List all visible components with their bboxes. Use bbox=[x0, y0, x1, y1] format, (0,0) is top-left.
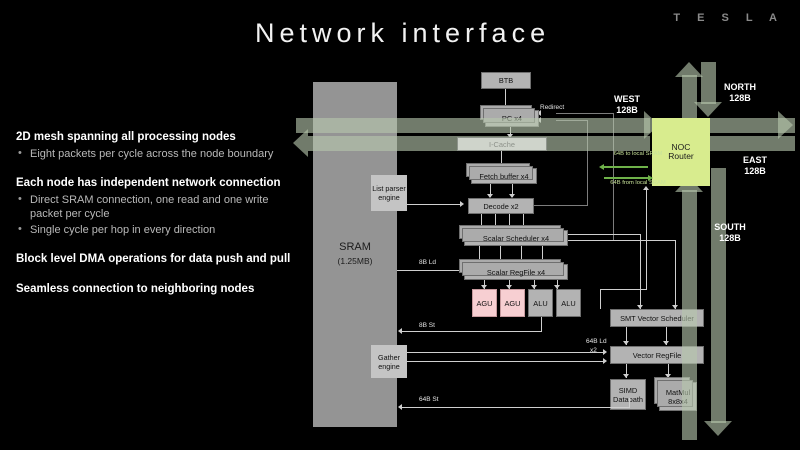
connector-st64-sram bbox=[402, 407, 630, 408]
mesh-arrowhead-down bbox=[694, 102, 722, 117]
st8-label: 8B St bbox=[419, 322, 435, 330]
mesh-arrowhead-down bbox=[704, 421, 732, 436]
arrowhead-down bbox=[672, 305, 678, 309]
connector-simd-st64 bbox=[629, 398, 630, 407]
btb-block: BTB bbox=[481, 72, 531, 89]
alu-label: ALU bbox=[561, 299, 575, 308]
direction-label-north: NORTH 128B bbox=[718, 82, 762, 104]
ld64-label: 64B Ld bbox=[586, 338, 607, 346]
bullet-head: 2D mesh spanning all processing nodes bbox=[16, 130, 296, 144]
mesh-arrow-south-out bbox=[711, 168, 726, 423]
mesh-arrowhead-up bbox=[675, 62, 703, 77]
fetch-buffer-block: Fetch buffer x4 bbox=[471, 168, 537, 184]
sram-size: (1.25MB) bbox=[338, 257, 373, 266]
bullet-sub: Eight packets per cycle across the node … bbox=[16, 147, 296, 161]
decode-label: Decode x2 bbox=[483, 202, 518, 211]
connector-st8-sram bbox=[402, 331, 542, 332]
north-width: 128B bbox=[718, 93, 762, 104]
spacer bbox=[16, 163, 296, 176]
west-width: 128B bbox=[605, 105, 649, 116]
noc-from-local-sram-label: 64B from local SRAM bbox=[596, 180, 680, 187]
west-name: WEST bbox=[605, 94, 649, 105]
gather-engine: Gather engine bbox=[371, 345, 407, 378]
bullet-list: 2D mesh spanning all processing nodes Ei… bbox=[16, 130, 296, 299]
spacer bbox=[16, 269, 296, 282]
gather-engine-label: Gather engine bbox=[371, 353, 407, 371]
mesh-arrow-north-in bbox=[701, 62, 716, 104]
scalar-scheduler-block: Scalar Scheduler x4 bbox=[464, 230, 568, 246]
scalar-regfile-block: Scalar RegFile x4 bbox=[464, 264, 568, 280]
mesh-arrowhead-right bbox=[778, 111, 793, 139]
tesla-logo: T E S L A bbox=[673, 12, 784, 24]
decode-block: Decode x2 bbox=[468, 198, 534, 214]
agu-block-2: AGU bbox=[500, 289, 525, 317]
north-name: NORTH bbox=[718, 82, 762, 93]
agu-label: AGU bbox=[504, 299, 520, 308]
south-name: SOUTH bbox=[708, 222, 752, 233]
mesh-arrow-west-in bbox=[296, 118, 650, 133]
noc-to-local-sram-label: 64B to local SRAM bbox=[596, 151, 680, 158]
redirect-label: Redirect bbox=[540, 104, 564, 112]
fetch-buffer-label: Fetch buffer x4 bbox=[479, 172, 528, 181]
arrowhead-right bbox=[603, 358, 607, 364]
simd-datapath-label: SIMD Datapath bbox=[611, 386, 645, 404]
connector-noc-vector-h2 bbox=[600, 289, 601, 309]
st64-label: 64B St bbox=[419, 396, 439, 404]
sram-label: SRAM bbox=[339, 243, 371, 252]
arrowhead-left-green bbox=[599, 164, 604, 170]
arrowhead-left bbox=[398, 404, 402, 410]
bullet-head: Block level DMA operations for data push… bbox=[16, 252, 296, 266]
mesh-arrowhead-left bbox=[293, 129, 308, 157]
connector-sched-smt-b bbox=[568, 240, 676, 241]
arrowhead-right bbox=[603, 349, 607, 355]
arrowhead-down bbox=[623, 374, 629, 378]
bullet-head: Seamless connection to neighboring nodes bbox=[16, 282, 296, 296]
connector-sram-ld8 bbox=[397, 270, 464, 271]
connector-decode-branch bbox=[534, 205, 588, 206]
mesh-arrow-south-in bbox=[682, 190, 697, 440]
slide: Network interface T E S L A 2D mesh span… bbox=[0, 0, 800, 450]
bullet-sub: Single cycle per hop in every direction bbox=[16, 223, 296, 237]
noc-from-local-sram-arrow bbox=[604, 177, 648, 179]
page-title: Network interface bbox=[255, 18, 550, 49]
icache-label: I-Cache bbox=[489, 140, 515, 149]
east-width: 128B bbox=[733, 166, 777, 177]
agu-block-1: AGU bbox=[472, 289, 497, 317]
south-width: 128B bbox=[708, 233, 752, 244]
btb-label: BTB bbox=[499, 76, 513, 85]
connector-noc-vector bbox=[646, 190, 647, 290]
list-parser-engine: List parser engine bbox=[371, 175, 407, 211]
list-parser-engine-label: List parser engine bbox=[371, 184, 407, 202]
connector-alu-st8 bbox=[541, 317, 542, 331]
icache-block: I-Cache bbox=[457, 137, 547, 151]
connector-gather-vregfile bbox=[407, 352, 605, 353]
arrowhead-down bbox=[637, 305, 643, 309]
noc-to-local-sram-arrow bbox=[604, 166, 648, 168]
arrowhead-down bbox=[623, 341, 629, 345]
vector-regfile-label: Vector RegFile bbox=[633, 351, 681, 360]
connector-listparser-decode bbox=[407, 204, 462, 205]
bullet-sub: Direct SRAM connection, one read and one… bbox=[16, 193, 296, 221]
alu-block-2: ALU bbox=[556, 289, 581, 317]
scalar-scheduler-label: Scalar Scheduler x4 bbox=[483, 234, 549, 243]
arrowhead-right bbox=[460, 201, 464, 207]
connector-sched-smt-a bbox=[568, 234, 641, 235]
arrowhead-down bbox=[663, 341, 669, 345]
mesh-arrow-east-in bbox=[700, 136, 795, 151]
connector-sched-smt-b-v bbox=[675, 240, 676, 309]
simd-datapath-block: SIMD Datapath bbox=[610, 379, 646, 410]
direction-label-east: EAST 128B bbox=[733, 155, 777, 177]
arrowhead-left bbox=[398, 328, 402, 334]
connector-noc-vector-h bbox=[600, 289, 647, 290]
alu-block-1: ALU bbox=[528, 289, 553, 317]
agu-label: AGU bbox=[476, 299, 492, 308]
ld64-x2-label: x2 bbox=[590, 347, 597, 355]
scalar-regfile-label: Scalar RegFile x4 bbox=[487, 268, 545, 277]
direction-label-south: SOUTH 128B bbox=[708, 222, 752, 244]
direction-label-west: WEST 128B bbox=[605, 94, 649, 116]
bullet-head: Each node has independent network connec… bbox=[16, 176, 296, 190]
connector-gather-vregfile-2 bbox=[407, 361, 605, 362]
connector-sched-smt-a-v bbox=[640, 234, 641, 309]
ld8-label: 8B Ld bbox=[419, 259, 436, 267]
east-name: EAST bbox=[733, 155, 777, 166]
spacer bbox=[16, 239, 296, 252]
alu-label: ALU bbox=[533, 299, 547, 308]
